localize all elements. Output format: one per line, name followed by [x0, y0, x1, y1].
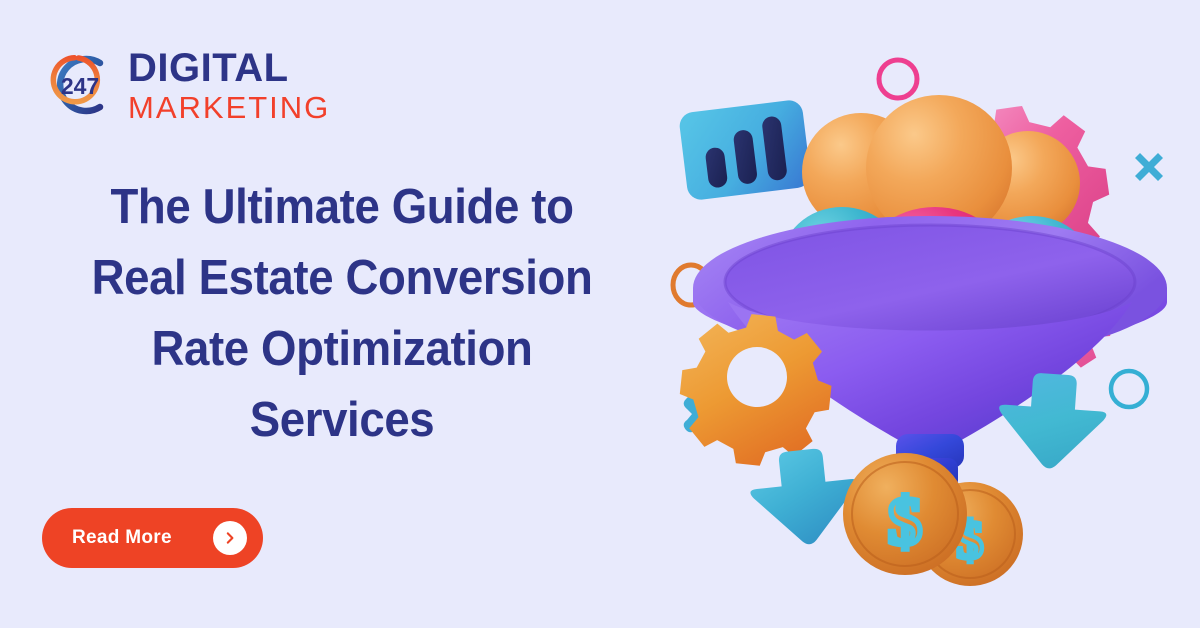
ring-cyan-outline [1111, 371, 1147, 407]
logo-mark-247: 247 [42, 47, 118, 123]
cross-cyan-icon [1135, 153, 1163, 181]
logo-word-digital: DIGITAL [128, 48, 330, 88]
page-title: The Ultimate Guide to Real Estate Conver… [44, 172, 639, 456]
conversion-funnel-illustration: $ $ [640, 10, 1200, 620]
coin-large: $ [843, 453, 967, 575]
headline-line-2: Real Estate Conversion [44, 243, 639, 314]
chevron-right-icon [213, 521, 247, 555]
logo-mark-text: 247 [61, 73, 99, 99]
read-more-button[interactable]: Read More [42, 508, 263, 568]
banner-stage: 247 DIGITAL MARKETING The Ultimate Guide… [0, 0, 1200, 628]
ring-pink-outline [879, 60, 917, 98]
headline-line-4: Services [44, 385, 639, 456]
logo-word-marketing: MARKETING [128, 92, 330, 123]
headline-line-3: Rate Optimization [44, 314, 639, 385]
logo-wordmark: DIGITAL MARKETING [128, 46, 330, 123]
coin-large-symbol: $ [888, 483, 922, 559]
headline-line-1: The Ultimate Guide to [44, 172, 639, 243]
read-more-label: Read More [72, 527, 213, 549]
bar-chart-card [678, 99, 812, 201]
site-logo[interactable]: 247 DIGITAL MARKETING [42, 46, 330, 123]
